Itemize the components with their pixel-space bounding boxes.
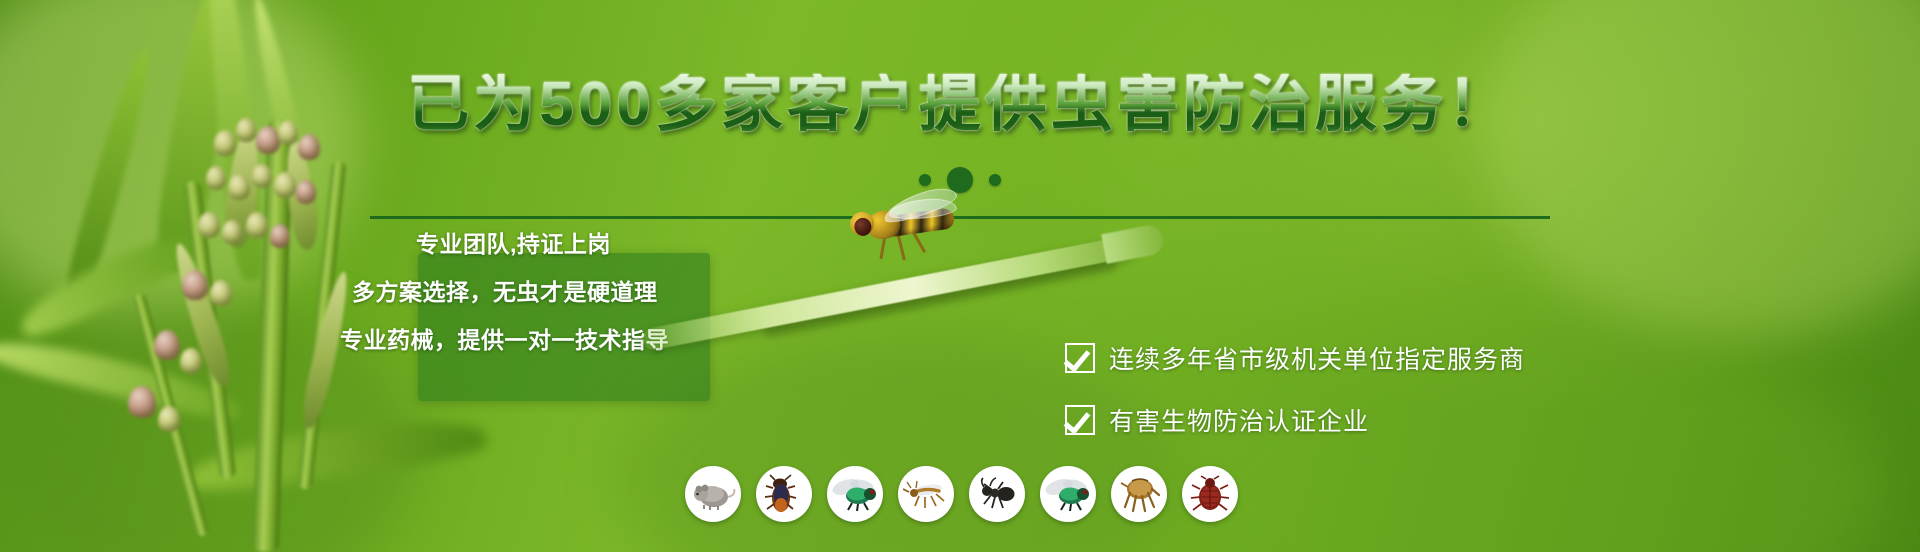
slogan-line-3: 专业药械，提供一对一技术指导 [340,321,669,355]
page-title: 已为500多家客户提供虫害防治服务！ [0,74,1920,136]
dot-small-right-icon [989,174,1001,186]
checkbox-checked-icon [1065,405,1095,435]
checklist: 连续多年省市级机关单位指定服务商 有害生物防治认证企业 [1065,340,1525,438]
checklist-text: 有害生物防治认证企业 [1109,402,1369,438]
checkbox-checked-icon [1065,343,1095,373]
slogan-line-1: 专业团队,持证上岗 [416,225,611,259]
pest-control-banner: 已为500多家客户提供虫害防治服务！ 已为500多家客户提供虫害防治服务！ 专业… [0,0,1920,552]
pest-icon-row [685,466,1238,522]
list-item: 有害生物防治认证企业 [1065,402,1525,438]
flea-icon[interactable] [1111,466,1167,522]
rat-icon[interactable] [685,466,741,522]
dot-small-left-icon [919,174,931,186]
ant-icon[interactable] [969,466,1025,522]
bedbug-icon[interactable] [1182,466,1238,522]
green-bottle-fly-icon[interactable] [827,466,883,522]
fly-icon[interactable] [1040,466,1096,522]
cockroach-icon[interactable] [756,466,812,522]
checklist-text: 连续多年省市级机关单位指定服务商 [1109,340,1525,376]
list-item: 连续多年省市级机关单位指定服务商 [1065,340,1525,376]
slogan-line-2: 多方案选择，无虫才是硬道理 [352,273,658,307]
mosquito-icon[interactable] [898,466,954,522]
